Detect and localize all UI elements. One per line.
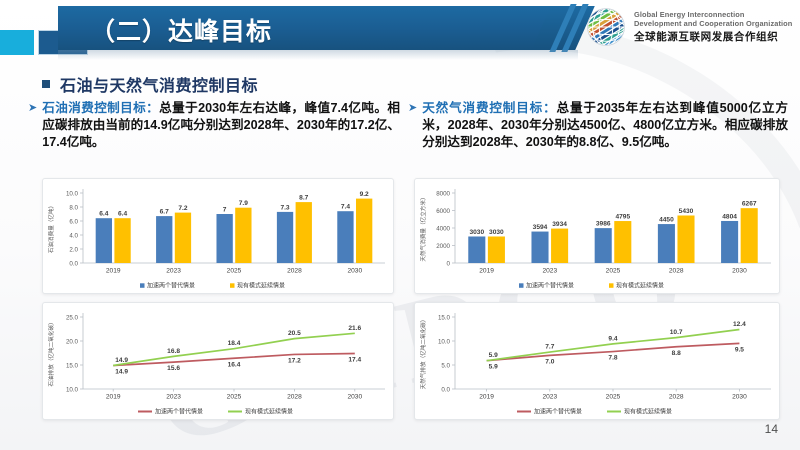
- y-tick-label: 6.0: [69, 219, 78, 226]
- line-value-label: 17.2: [288, 357, 301, 364]
- y-axis-label: 石油消费量（亿吨）: [47, 203, 55, 253]
- line-value-label: 10.7: [670, 329, 683, 336]
- square-bullet-icon: [42, 80, 50, 88]
- section-heading: 石油与天然气消费控制目标: [42, 72, 258, 96]
- x-tick-label: 2025: [227, 268, 242, 275]
- legend-label: 现有模式延续情景: [624, 408, 672, 416]
- arrow-bullet-icon: ➤: [408, 100, 417, 116]
- legend-label: 现有模式延续情景: [245, 408, 293, 416]
- bar-value-label: 7.3: [280, 204, 289, 211]
- line-value-label: 7.8: [608, 355, 617, 362]
- line-value-label: 15.6: [167, 365, 180, 372]
- line-value-label: 16.4: [228, 361, 241, 368]
- bar: [96, 218, 112, 263]
- legend-swatch: [519, 283, 524, 288]
- bar: [296, 202, 312, 263]
- bar: [337, 211, 353, 263]
- x-tick-label: 2028: [669, 394, 684, 401]
- bar: [468, 236, 485, 263]
- y-axis-label: 天然气消费量（亿立方米）: [419, 194, 427, 261]
- chart-oil-consumption: 0.02.04.06.08.010.0石油消费量（亿吨）201920232025…: [42, 178, 394, 294]
- bar-value-label: 3030: [469, 229, 484, 236]
- section-heading-label: 石油与天然气消费控制目标: [60, 72, 258, 96]
- x-tick-label: 2030: [732, 268, 747, 275]
- bar: [114, 218, 130, 263]
- arrow-bullet-icon: ➤: [28, 100, 37, 116]
- legend-label: 加速两个替代情景: [526, 282, 574, 290]
- x-tick-label: 2028: [669, 268, 684, 275]
- page-number: 14: [765, 422, 778, 436]
- x-tick-label: 2025: [606, 394, 621, 401]
- x-tick-label: 2023: [542, 268, 557, 275]
- bar-value-label: 3594: [533, 224, 548, 231]
- x-tick-label: 2023: [166, 394, 181, 401]
- line-value-label: 21.6: [348, 325, 361, 332]
- page-title: （二）达峰目标: [90, 12, 272, 48]
- left-paragraph: ➤ 石油消费控制目标：总量于2030年左右达峰，峰值7.4亿吨。相应碳排放由当前…: [28, 100, 400, 151]
- bar: [614, 221, 631, 263]
- x-tick-label: 2030: [347, 268, 362, 275]
- bar-value-label: 7.2: [178, 205, 187, 212]
- y-axis-label: 石油排放（亿吨二氧化碳）: [47, 319, 55, 386]
- legend-label: 加速两个替代情景: [155, 408, 203, 416]
- bar-value-label: 7.4: [341, 204, 350, 211]
- bar: [741, 208, 758, 263]
- line-value-label: 7.0: [545, 358, 554, 365]
- chart-svg-oil-consumption: 0.02.04.06.08.010.0石油消费量（亿吨）201920232025…: [43, 179, 393, 293]
- y-tick-label: 2000: [436, 243, 450, 250]
- x-tick-label: 2023: [166, 268, 181, 275]
- bar: [235, 208, 251, 263]
- organization-logo: Global Energy Interconnection Developmen…: [585, 6, 792, 48]
- left-paragraph-lead: 石油消费控制目标：: [42, 101, 159, 115]
- left-column: ➤ 石油消费控制目标：总量于2030年左右达峰，峰值7.4亿吨。相应碳排放由当前…: [28, 100, 400, 151]
- right-paragraph-lead: 天然气消费控制目标：: [422, 101, 556, 115]
- bar: [216, 214, 232, 263]
- y-tick-label: 15.0: [438, 315, 451, 322]
- line-value-label: 7.7: [545, 344, 554, 351]
- logo-english-line1: Global Energy Interconnection: [634, 10, 792, 19]
- bar-value-label: 5430: [679, 208, 694, 215]
- y-tick-label: 10.0: [438, 339, 451, 346]
- y-tick-label: 10.0: [66, 387, 79, 394]
- bar: [551, 229, 568, 263]
- legend-swatch: [609, 283, 614, 288]
- line-value-label: 16.8: [167, 348, 180, 355]
- y-tick-label: 8000: [436, 191, 450, 198]
- legend-label: 现有模式延续情景: [237, 282, 285, 290]
- bar-value-label: 4450: [659, 217, 674, 224]
- y-tick-label: 2.0: [69, 247, 78, 254]
- x-tick-label: 2019: [479, 394, 494, 401]
- x-tick-label: 2030: [347, 394, 362, 401]
- line-value-label: 17.4: [348, 356, 361, 363]
- bar: [277, 212, 293, 263]
- logo-english-line2: Development and Cooperation Organization: [634, 19, 792, 28]
- chart-svg-gas-emissions: 0.05.010.015.0天然气排放（亿吨二氧化碳）2019202320252…: [415, 303, 779, 419]
- x-tick-label: 2030: [732, 394, 747, 401]
- y-tick-label: 25.0: [66, 315, 79, 322]
- chart-oil-emissions: 10.015.020.025.0石油排放（亿吨二氧化碳）201920232025…: [42, 302, 394, 420]
- bar-value-label: 3030: [489, 229, 504, 236]
- bar-value-label: 6.4: [99, 211, 108, 218]
- line-value-label: 9.4: [608, 335, 617, 342]
- bar: [595, 228, 612, 263]
- bar-value-label: 6.4: [118, 211, 127, 218]
- x-tick-label: 2028: [287, 394, 302, 401]
- bar-value-label: 3986: [596, 221, 611, 228]
- legend-label: 加速两个替代情景: [147, 282, 195, 290]
- line-value-label: 14.9: [115, 357, 128, 364]
- x-tick-label: 2028: [287, 268, 302, 275]
- y-tick-label: 10.0: [66, 191, 79, 198]
- chart-gas-consumption: 02000400060008000天然气消费量（亿立方米）20192023202…: [414, 178, 780, 294]
- chart-gas-emissions: 0.05.010.015.0天然气排放（亿吨二氧化碳）2019202320252…: [414, 302, 780, 420]
- bar-value-label: 4795: [615, 214, 630, 221]
- y-tick-label: 20.0: [66, 339, 79, 346]
- y-tick-label: 0.0: [441, 387, 450, 394]
- bar-value-label: 4804: [722, 213, 737, 220]
- bar-value-label: 6.7: [160, 209, 169, 216]
- legend-label: 现有模式延续情景: [616, 282, 664, 290]
- bar-value-label: 3934: [552, 221, 567, 228]
- line-value-label: 12.4: [733, 321, 746, 328]
- legend-label: 加速两个替代情景: [534, 408, 582, 416]
- x-tick-label: 2025: [606, 268, 621, 275]
- x-tick-label: 2023: [542, 394, 557, 401]
- line-value-label: 14.9: [115, 368, 128, 375]
- y-tick-label: 15.0: [66, 363, 79, 370]
- header-accent-square-light: [0, 30, 34, 55]
- y-tick-label: 0.0: [69, 261, 78, 268]
- bar: [677, 215, 694, 263]
- line-value-label: 8.8: [672, 350, 681, 357]
- y-tick-label: 6000: [436, 208, 450, 215]
- y-tick-label: 5.0: [441, 363, 450, 370]
- bar-value-label: 6267: [742, 201, 757, 208]
- legend-swatch: [140, 283, 145, 288]
- bar: [658, 224, 675, 263]
- y-tick-label: 4.0: [69, 233, 78, 240]
- x-tick-label: 2025: [227, 394, 242, 401]
- x-tick-label: 2019: [106, 268, 121, 275]
- header-shadow: [58, 50, 578, 60]
- line-value-label: 5.9: [489, 352, 498, 359]
- bar: [175, 213, 191, 263]
- x-tick-label: 2019: [106, 394, 121, 401]
- bar: [356, 199, 372, 263]
- bar: [721, 221, 738, 263]
- slide-header: （二）达峰目标: [0, 0, 800, 62]
- line-value-label: 20.5: [288, 330, 301, 337]
- line-value-label: 18.4: [228, 340, 241, 347]
- y-tick-label: 0: [447, 261, 451, 268]
- bar-value-label: 7: [223, 207, 227, 214]
- line-value-label: 9.5: [735, 346, 744, 353]
- y-axis-label: 天然气排放（亿吨二氧化碳）: [419, 317, 427, 390]
- x-tick-label: 2019: [479, 268, 494, 275]
- right-column: ➤ 天然气消费控制目标：总量于2035年左右达到峰值5000亿立方米，2028年…: [408, 100, 788, 151]
- bar: [156, 216, 172, 263]
- line-value-label: 5.9: [489, 364, 498, 371]
- globe-icon: [585, 6, 627, 48]
- bar: [531, 232, 548, 263]
- bar-value-label: 8.7: [299, 195, 308, 202]
- slide-canvas: GEIDCO （二）达峰目标: [0, 0, 800, 450]
- bar-value-label: 7.9: [239, 200, 248, 207]
- bar-value-label: 9.2: [360, 191, 369, 198]
- logo-chinese: 全球能源互联网发展合作组织: [634, 31, 792, 44]
- chart-svg-oil-emissions: 10.015.020.025.0石油排放（亿吨二氧化碳）201920232025…: [43, 303, 393, 419]
- legend-swatch: [230, 283, 235, 288]
- chart-svg-gas-consumption: 02000400060008000天然气消费量（亿立方米）20192023202…: [415, 179, 779, 293]
- bar: [488, 236, 505, 263]
- right-paragraph: ➤ 天然气消费控制目标：总量于2035年左右达到峰值5000亿立方米，2028年…: [408, 100, 788, 151]
- y-tick-label: 4000: [436, 226, 450, 233]
- y-tick-label: 8.0: [69, 205, 78, 212]
